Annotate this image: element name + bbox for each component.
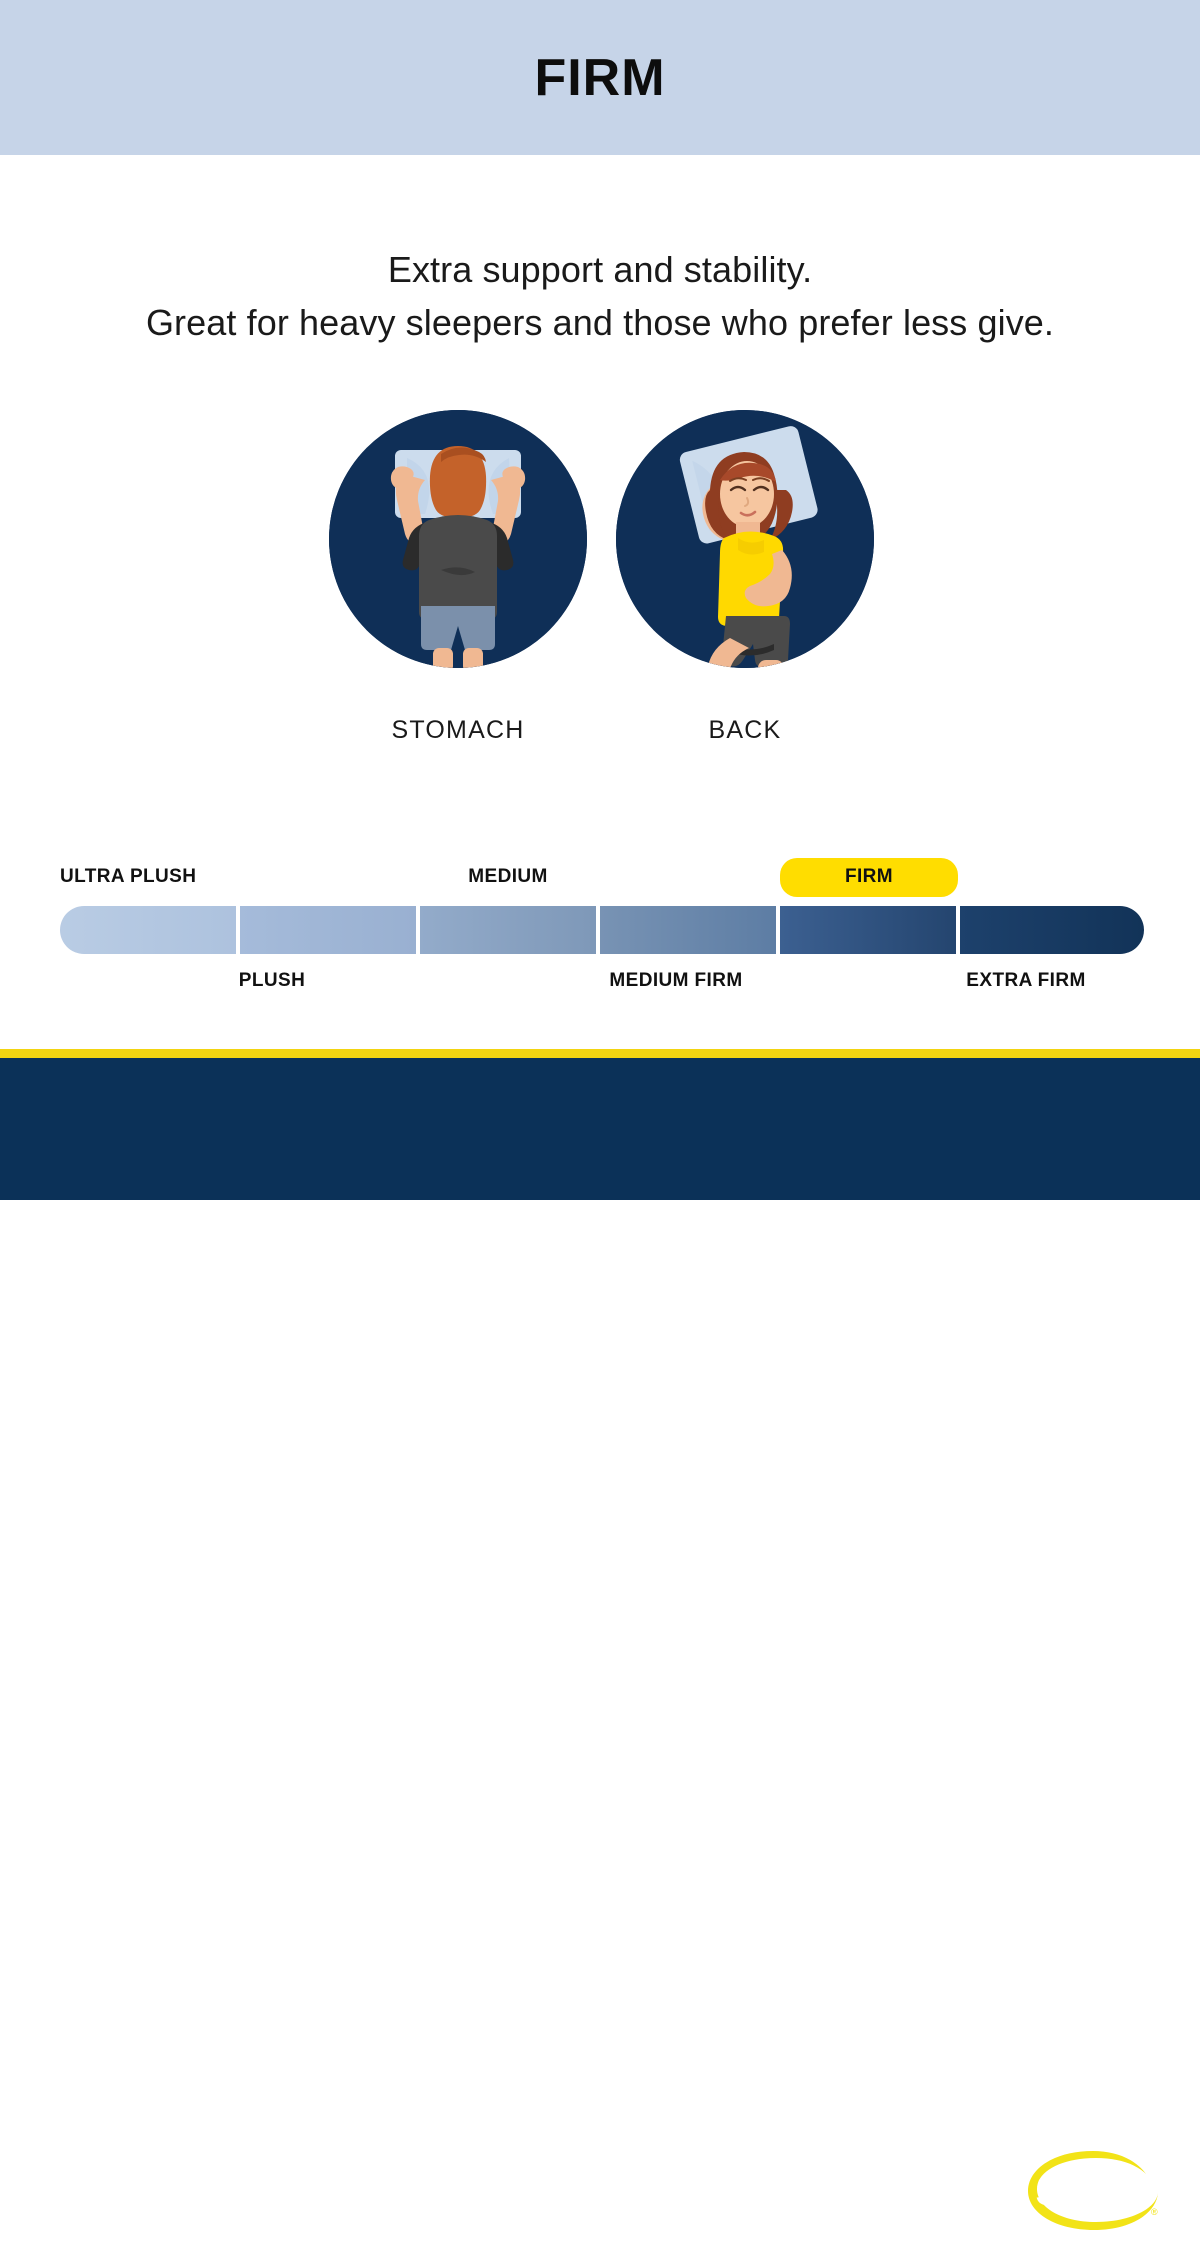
- sleep-positions: STOMACH: [0, 410, 1200, 750]
- firmness-scale-labels-bottom: PLUSH MEDIUM FIRM EXTRA FIRM: [60, 966, 1144, 1000]
- firmness-label-ultra-plush[interactable]: ULTRA PLUSH: [60, 866, 196, 888]
- footer-band: Serta ®: [0, 1058, 1200, 1200]
- firmness-segment-medium[interactable]: [420, 906, 596, 954]
- firmness-segment-medium-firm[interactable]: [600, 906, 776, 954]
- sleep-position-back: BACK: [614, 410, 876, 745]
- sleep-position-stomach: STOMACH: [327, 410, 589, 745]
- firmness-segment-extra-firm[interactable]: [960, 906, 1144, 954]
- page-title: FIRM: [534, 52, 665, 104]
- serta-wordmark: Serta: [1035, 2167, 1141, 2214]
- firmness-scale-bar[interactable]: [60, 906, 1144, 954]
- subtitle-line-2: Great for heavy sleepers and those who p…: [0, 296, 1200, 349]
- footer-accent-stripe: [0, 1049, 1200, 1058]
- subtitle-line-1: Extra support and stability.: [0, 243, 1200, 296]
- header-band: FIRM: [0, 0, 1200, 155]
- pose-label-back: BACK: [614, 716, 876, 745]
- back-sleeper-icon: [616, 410, 874, 668]
- registered-trademark-icon: ®: [1151, 2207, 1158, 2217]
- firmness-label-extra-firm[interactable]: EXTRA FIRM: [966, 970, 1085, 992]
- serta-logo-icon: Serta ®: [1018, 2143, 1168, 2238]
- firmness-label-firm-selected[interactable]: FIRM: [780, 858, 958, 897]
- firmness-segment-plush[interactable]: [240, 906, 416, 954]
- firmness-label-plush[interactable]: PLUSH: [239, 970, 305, 992]
- firmness-scale: ULTRA PLUSH MEDIUM FIRM PLUSH MEDIUM FIR…: [60, 862, 1144, 1007]
- firmness-scale-labels-top: ULTRA PLUSH MEDIUM FIRM: [60, 862, 1144, 896]
- firmness-segment-firm[interactable]: [780, 906, 956, 954]
- firmness-segment-ultra-plush[interactable]: [60, 906, 236, 954]
- pose-label-stomach: STOMACH: [327, 716, 589, 745]
- stomach-sleeper-icon: [329, 410, 587, 668]
- subtitle-block: Extra support and stability. Great for h…: [0, 243, 1200, 349]
- firmness-label-medium[interactable]: MEDIUM: [468, 866, 547, 888]
- firmness-label-medium-firm[interactable]: MEDIUM FIRM: [609, 970, 742, 992]
